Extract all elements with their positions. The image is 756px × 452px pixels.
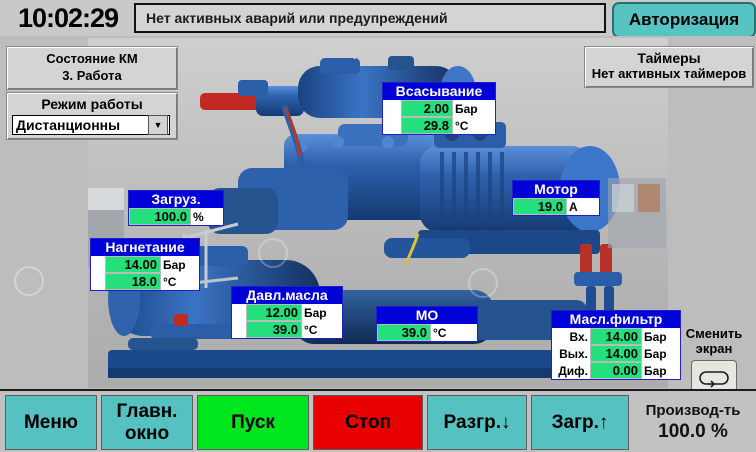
motor-current-tag[interactable]: Мотор 19.0 A xyxy=(512,180,600,216)
unload-button[interactable]: Разгр.↓ xyxy=(427,395,527,450)
watermark-ring-icon xyxy=(14,266,44,296)
oil-filter-outlet-value: 14.00 xyxy=(590,345,642,362)
timers-value: Нет активных таймеров xyxy=(585,66,753,81)
capacity-value: 100.0 % xyxy=(658,421,728,443)
discharge-row-temperature: 18.0 °C xyxy=(91,273,199,290)
compressor-state-panel: Состояние КМ 3. Работа xyxy=(6,46,178,90)
load-percent-tag-title: Загруз. xyxy=(129,191,223,208)
load-percent-tag[interactable]: Загруз. 100.0 % xyxy=(128,190,224,226)
spacer xyxy=(383,100,401,117)
operating-mode-dropdown[interactable]: Дистанционны ▼ xyxy=(12,115,170,135)
motor-current-value: 19.0 xyxy=(513,198,567,215)
oil-filter-tag-title: Масл.фильтр xyxy=(552,311,680,328)
spacer xyxy=(232,304,246,321)
discharge-pressure-value: 14.00 xyxy=(105,256,161,273)
clock-display: 10:02:29 xyxy=(4,2,132,34)
change-screen-button[interactable] xyxy=(691,360,737,389)
oil-filter-outlet-unit: Бар xyxy=(642,345,678,362)
top-status-bar: 10:02:29 Нет активных аварий или предупр… xyxy=(0,0,756,36)
oil-temperature-value: 39.0 xyxy=(246,321,302,338)
load-button[interactable]: Загр.↑ xyxy=(531,395,629,450)
change-screen-control[interactable]: Сменить экран xyxy=(676,326,752,389)
discharge-row-pressure: 14.00 Бар xyxy=(91,256,199,273)
mo-tag-title: МО xyxy=(377,307,477,324)
main-window-button[interactable]: Главн. окно xyxy=(101,395,193,450)
oil-pressure-tag[interactable]: Давл.масла 12.00 Бар 39.0 °C xyxy=(231,286,343,339)
spacer xyxy=(383,117,401,134)
motor-current-tag-title: Мотор xyxy=(513,181,599,198)
unload-button-label: Разгр.↓ xyxy=(444,412,511,434)
suction-tag-title: Всасывание xyxy=(383,83,495,100)
chevron-down-icon[interactable]: ▼ xyxy=(148,115,168,135)
menu-button-label: Меню xyxy=(24,412,78,434)
menu-button[interactable]: Меню xyxy=(5,395,97,450)
alarm-message-bar[interactable]: Нет активных аварий или предупреждений xyxy=(134,3,606,33)
oil-pressure-tag-title: Давл.масла xyxy=(232,287,342,304)
stop-button[interactable]: Стоп xyxy=(313,395,423,450)
change-screen-label-line1: Сменить xyxy=(676,326,752,341)
load-button-label: Загр.↑ xyxy=(552,412,609,434)
discharge-tag[interactable]: Нагнетание 14.00 Бар 18.0 °C xyxy=(90,238,200,291)
oil-filter-outlet-label: Вых. xyxy=(552,345,590,362)
operating-mode-panel: Режим работы Дистанционны ▼ xyxy=(6,92,178,140)
oil-temperature-unit: °C xyxy=(302,321,340,338)
spacer xyxy=(91,256,105,273)
suction-row-pressure: 2.00 Бар xyxy=(383,100,495,117)
compressor-state-value: 3. Работа xyxy=(7,68,177,83)
hmi-screen: 10:02:29 Нет активных аварий или предупр… xyxy=(0,0,756,452)
authorization-button[interactable]: Авторизация xyxy=(612,2,756,38)
capacity-title: Производ-ть xyxy=(646,402,741,419)
stop-button-label: Стоп xyxy=(345,412,391,434)
suction-temperature-value: 29.8 xyxy=(401,117,453,134)
load-percent-row: 100.0 % xyxy=(129,208,223,225)
load-percent-value: 100.0 xyxy=(129,208,191,225)
suction-temperature-unit: °C xyxy=(453,117,493,134)
main-window-button-label-line2: окно xyxy=(125,423,169,445)
bottom-button-bar: Меню Главн. окно Пуск Стоп Разгр.↓ Загр.… xyxy=(0,389,756,452)
suction-row-temperature: 29.8 °C xyxy=(383,117,495,134)
spacer xyxy=(232,321,246,338)
discharge-tag-title: Нагнетание xyxy=(91,239,199,256)
start-button[interactable]: Пуск xyxy=(197,395,309,450)
change-screen-label-line2: экран xyxy=(676,341,752,356)
compressor-state-title: Состояние КМ xyxy=(7,51,177,66)
oil-filter-inlet-unit: Бар xyxy=(642,328,678,345)
oil-filter-inlet-value: 14.00 xyxy=(590,328,642,345)
mo-temperature-unit: °C xyxy=(431,324,475,341)
discharge-temperature-value: 18.0 xyxy=(105,273,161,290)
mo-temperature-tag[interactable]: МО 39.0 °C xyxy=(376,306,478,342)
oil-filter-row-outlet: Вых. 14.00 Бар xyxy=(552,345,680,362)
motor-current-unit: A xyxy=(567,198,597,215)
authorization-button-label: Авторизация xyxy=(629,10,739,30)
timers-title: Таймеры xyxy=(585,50,753,66)
oil-pressure-value: 12.00 xyxy=(246,304,302,321)
oil-filter-diff-unit: Бар xyxy=(642,362,678,379)
mo-temperature-value: 39.0 xyxy=(377,324,431,341)
suction-tag[interactable]: Всасывание 2.00 Бар 29.8 °C xyxy=(382,82,496,135)
operating-mode-value: Дистанционны xyxy=(13,117,148,133)
oil-filter-row-differential: Диф. 0.00 Бар xyxy=(552,362,680,379)
suction-pressure-unit: Бар xyxy=(453,100,493,117)
loop-arrow-icon xyxy=(698,368,730,388)
oil-filter-diff-value: 0.00 xyxy=(590,362,642,379)
alarm-message-text: Нет активных аварий или предупреждений xyxy=(146,10,448,26)
oil-row-pressure: 12.00 Бар xyxy=(232,304,342,321)
main-window-button-label-line1: Главн. xyxy=(117,401,178,423)
start-button-label: Пуск xyxy=(231,412,275,434)
timers-panel: Таймеры Нет активных таймеров xyxy=(584,46,754,88)
spacer xyxy=(91,273,105,290)
oil-filter-tag[interactable]: Масл.фильтр Вх. 14.00 Бар Вых. 14.00 Бар… xyxy=(551,310,681,380)
motor-current-row: 19.0 A xyxy=(513,198,599,215)
discharge-temperature-unit: °C xyxy=(161,273,197,290)
oil-filter-diff-label: Диф. xyxy=(552,362,590,379)
mo-temperature-row: 39.0 °C xyxy=(377,324,477,341)
operating-mode-title: Режим работы xyxy=(7,96,177,112)
discharge-pressure-unit: Бар xyxy=(161,256,197,273)
load-percent-unit: % xyxy=(191,208,221,225)
suction-pressure-value: 2.00 xyxy=(401,100,453,117)
oil-filter-inlet-label: Вх. xyxy=(552,328,590,345)
oil-filter-row-inlet: Вх. 14.00 Бар xyxy=(552,328,680,345)
main-mimic-canvas: COOLTECH Состояние КМ 3. Работа Режим ра… xyxy=(0,36,756,389)
oil-row-temperature: 39.0 °C xyxy=(232,321,342,338)
oil-pressure-unit: Бар xyxy=(302,304,340,321)
capacity-indicator: Производ-ть 100.0 % xyxy=(633,393,753,452)
